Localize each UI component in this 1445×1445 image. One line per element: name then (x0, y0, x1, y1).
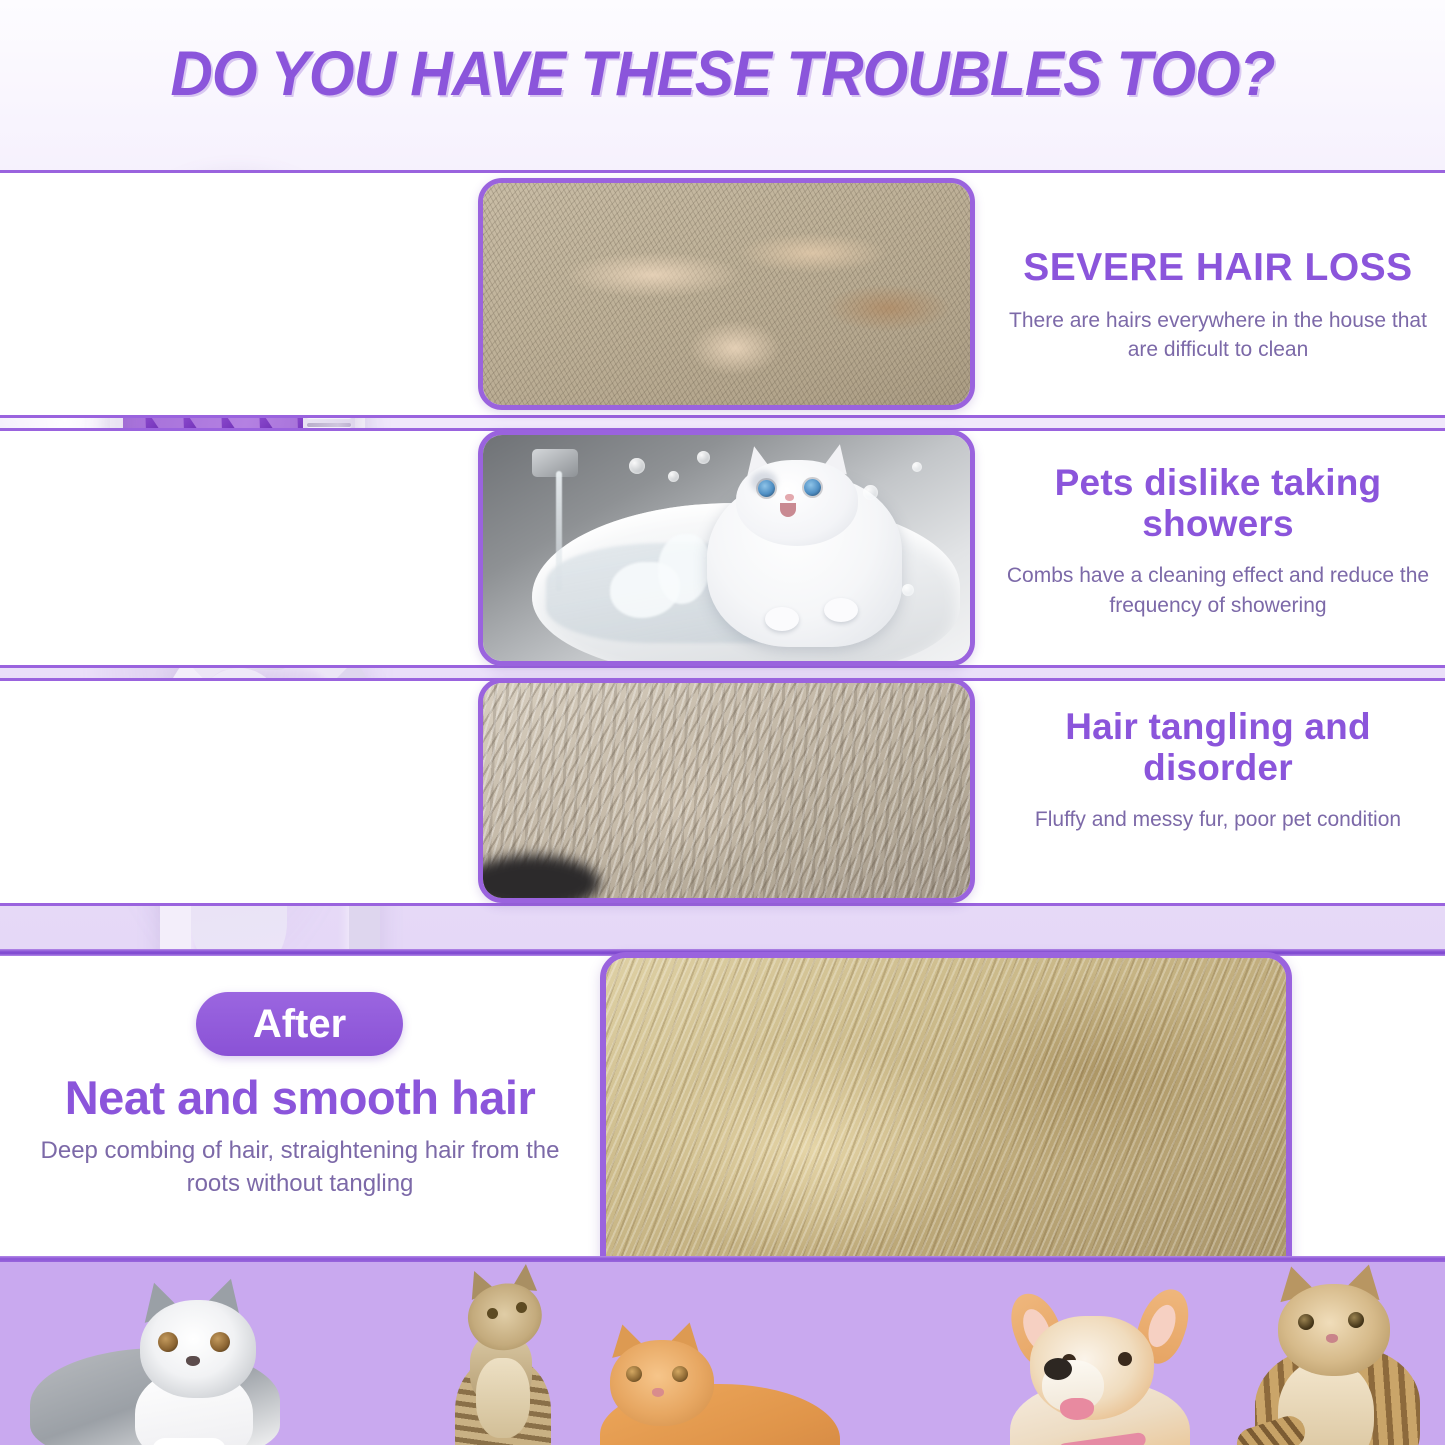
faucet-icon (532, 449, 578, 477)
vent-slat (307, 423, 351, 427)
cat-head (140, 1300, 256, 1398)
cat-eye (487, 1308, 498, 1319)
problem-photo-hair-loss (478, 178, 975, 410)
after-badge: After (196, 992, 403, 1056)
infographic-page: DO YOU HAVE THESE TROUBLES TOO? SEVERE H… (0, 0, 1445, 1445)
cat-eye (626, 1366, 642, 1382)
after-heading: Neat and smooth hair (0, 1070, 600, 1125)
problem-subtext: Fluffy and messy fur, poor pet condition (1000, 805, 1436, 835)
cat-eye (1348, 1312, 1364, 1328)
cat-paw (824, 598, 858, 622)
page-title: DO YOU HAVE THESE TROUBLES TOO? (51, 38, 1395, 110)
problem-subtext: Combs have a cleaning effect and reduce … (1000, 561, 1436, 621)
cat-eye (158, 1332, 178, 1352)
cat-eye (1298, 1314, 1314, 1330)
cat-nose (186, 1356, 200, 1366)
problem-photo-tangled-fur (478, 678, 975, 903)
cat-eye (210, 1332, 230, 1352)
problem-subtext: There are hairs everywhere in the house … (1000, 306, 1436, 366)
dog-tongue (1060, 1398, 1094, 1420)
problem-heading: Hair tangling and disorder (1000, 706, 1436, 789)
cat-paw (765, 607, 799, 631)
cat-head (1278, 1284, 1390, 1376)
bubble (863, 485, 878, 500)
after-subtext: Deep combing of hair, straightening hair… (40, 1134, 560, 1200)
after-photo-smooth-fur (600, 952, 1292, 1282)
dog-nose (1044, 1358, 1072, 1380)
carpet-hair-image (483, 183, 970, 405)
problem-text-block: SEVERE HAIR LOSS There are hairs everywh… (1000, 246, 1436, 365)
after-text-block: After Neat and smooth hair Deep combing … (0, 956, 600, 1262)
cat-paw (152, 1438, 226, 1445)
water-stream (556, 471, 562, 591)
cat-head (610, 1340, 714, 1426)
problem-photo-shower (478, 430, 975, 666)
cat-nose (785, 494, 794, 501)
bubble (902, 584, 914, 596)
problem-heading: SEVERE HAIR LOSS (1000, 246, 1436, 290)
problems-section: DO YOU HAVE THESE TROUBLES TOO? SEVERE H… (0, 0, 1445, 955)
cat-eye (516, 1302, 527, 1313)
bubble (668, 471, 679, 482)
cat-nose (652, 1388, 664, 1397)
smooth-fur-image (606, 958, 1286, 1276)
tangled-fur-image (483, 683, 970, 898)
bubble (629, 458, 645, 474)
bubble (912, 462, 922, 472)
problem-heading: Pets dislike taking showers (1000, 462, 1436, 545)
bubble (697, 451, 710, 464)
cat-nose (1326, 1334, 1338, 1343)
dog-eye (1118, 1352, 1132, 1366)
problem-text-block: Hair tangling and disorder Fluffy and me… (1000, 706, 1436, 835)
cat-eye (672, 1366, 688, 1382)
problem-text-block: Pets dislike taking showers Combs have a… (1000, 462, 1436, 621)
cat-chest (476, 1358, 530, 1438)
pets-strip (0, 1262, 1445, 1445)
bathtub-cat-image (483, 435, 970, 661)
